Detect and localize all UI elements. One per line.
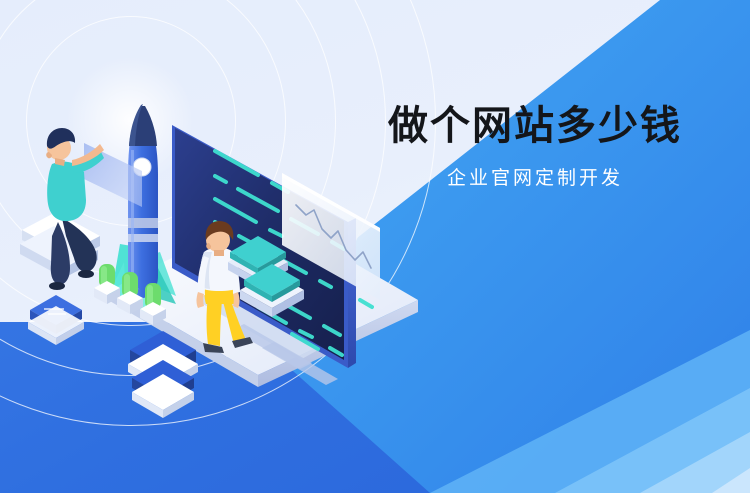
hero-copy: 做个网站多少钱 企业官网定制开发 [370,104,700,190]
small-book [28,295,84,345]
page-title: 做个网站多少钱 [370,104,700,149]
page-subtitle: 企业官网定制开发 [370,163,700,190]
hero-illustration [0,0,750,493]
hero-banner: 做个网站多少钱 企业官网定制开发 [0,0,750,493]
rocket [106,104,176,318]
